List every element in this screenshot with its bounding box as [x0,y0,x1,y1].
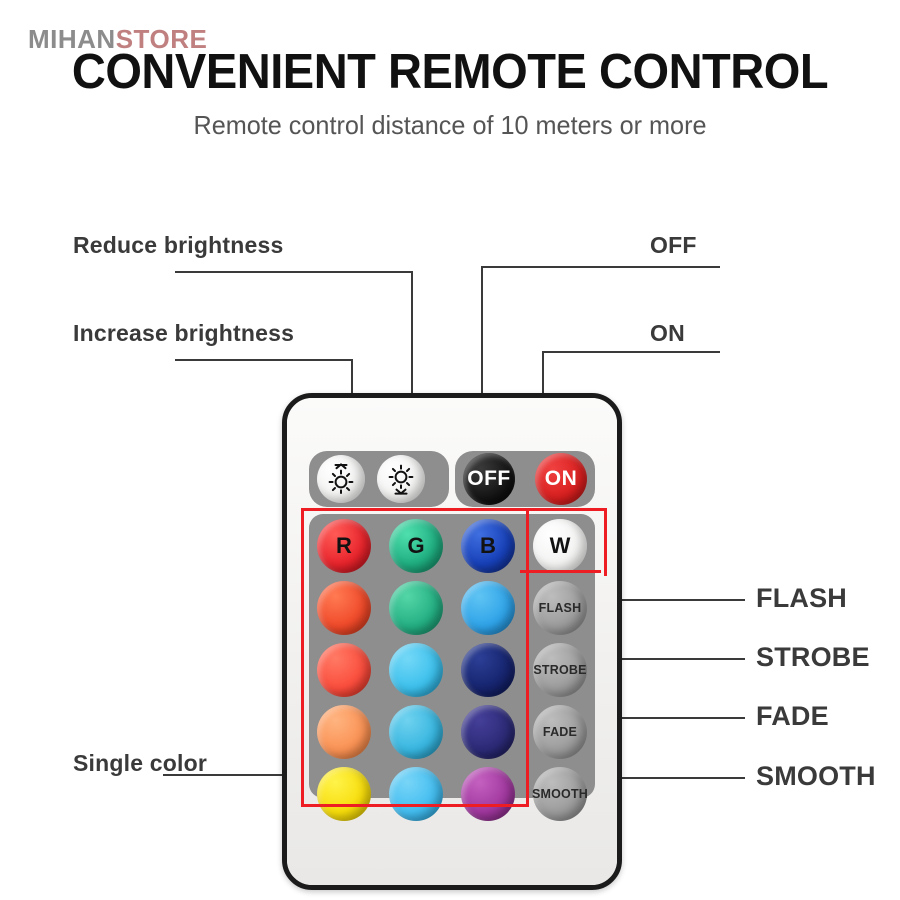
smooth-button-label: SMOOTH [532,787,588,801]
callout-flash: FLASH [756,583,847,614]
page-subtitle: Remote control distance of 10 meters or … [14,110,887,141]
callout-single-color: Single color [73,750,207,777]
off-button-label: OFF [467,467,511,491]
smooth-button[interactable]: SMOOTH [533,767,587,821]
strobe-button[interactable]: STROBE [533,643,587,697]
flash-button-label: FLASH [539,601,582,615]
off-button[interactable]: OFF [463,453,515,505]
fade-button-label: FADE [543,725,577,739]
on-button-label: ON [545,467,578,491]
strobe-button-label: STROBE [533,663,586,677]
sun-up-icon [324,462,358,496]
fade-button[interactable]: FADE [533,705,587,759]
callout-strobe: STROBE [756,642,870,673]
callout-smooth: SMOOTH [756,761,876,792]
sun-down-icon [384,462,418,496]
flash-button[interactable]: FLASH [533,581,587,635]
remote-face: OFF ON R G B W [287,398,617,885]
callout-on: ON [650,320,685,347]
remote-control: OFF ON R G B W [282,393,622,890]
callout-increase-brightness: Increase brightness [73,320,294,347]
highlight-box-colors [301,508,529,807]
reduce-brightness-button[interactable] [377,455,425,503]
callout-reduce-brightness: Reduce brightness [73,232,283,259]
page-title: CONVENIENT REMOTE CONTROL [18,44,882,100]
highlight-box-connector [520,570,601,573]
on-button[interactable]: ON [535,453,587,505]
callout-off: OFF [650,232,697,259]
increase-brightness-button[interactable] [317,455,365,503]
infographic-canvas: MIHANSTORE CONVENIENT REMOTE CONTROL Rem… [0,0,900,900]
callout-fade: FADE [756,701,829,732]
